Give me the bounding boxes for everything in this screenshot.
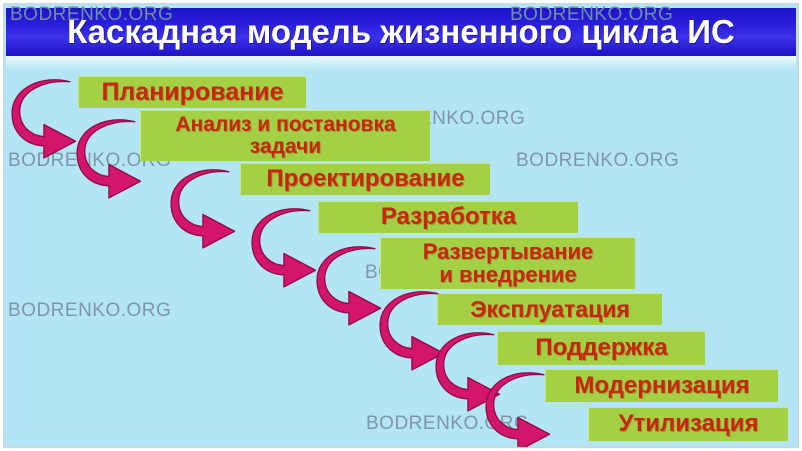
stage-label-1: Планирование [101, 80, 283, 106]
flow-arrow [487, 369, 559, 449]
slide-canvas: BODRENKO.ORGBODRENKO.ORGBODRENKO.ORGBODR… [0, 0, 802, 451]
stage-label-4: Разработка [381, 205, 516, 230]
flow-arrow [253, 205, 325, 285]
stage-label-7: Поддержка [535, 336, 667, 361]
watermark: BODRENKO.ORG [510, 4, 673, 26]
flow-arrow [13, 76, 85, 156]
stage-box-9[interactable]: Утилизация [588, 407, 788, 441]
watermark: BODRENKO.ORG [10, 4, 173, 26]
flow-arrow [318, 243, 390, 323]
stage-box-1[interactable]: Планирование [78, 76, 306, 108]
stage-box-5[interactable]: Развертывание и внедрение [380, 237, 635, 289]
flow-arrow [78, 116, 150, 196]
stage-label-6: Эксплуатация [470, 298, 630, 322]
stage-box-6[interactable]: Эксплуатация [437, 293, 662, 325]
stage-label-2: Анализ и постановка задачи [141, 114, 430, 157]
title-underglow [6, 56, 796, 70]
stage-box-7[interactable]: Поддержка [497, 331, 705, 365]
stage-box-8[interactable]: Модернизация [545, 369, 778, 402]
stage-box-4[interactable]: Разработка [318, 201, 578, 233]
stage-box-2[interactable]: Анализ и постановка задачи [140, 110, 430, 161]
watermark: BODRENKO.ORG [8, 300, 171, 322]
watermark: BODRENKO.ORG [516, 150, 679, 172]
stage-label-5: Развертывание и внедрение [381, 241, 635, 286]
flow-arrow [172, 166, 244, 246]
stage-label-3: Проектирование [266, 167, 464, 192]
stage-box-3[interactable]: Проектирование [240, 163, 490, 195]
stage-label-9: Утилизация [619, 412, 759, 437]
stage-label-8: Модернизация [574, 374, 749, 399]
